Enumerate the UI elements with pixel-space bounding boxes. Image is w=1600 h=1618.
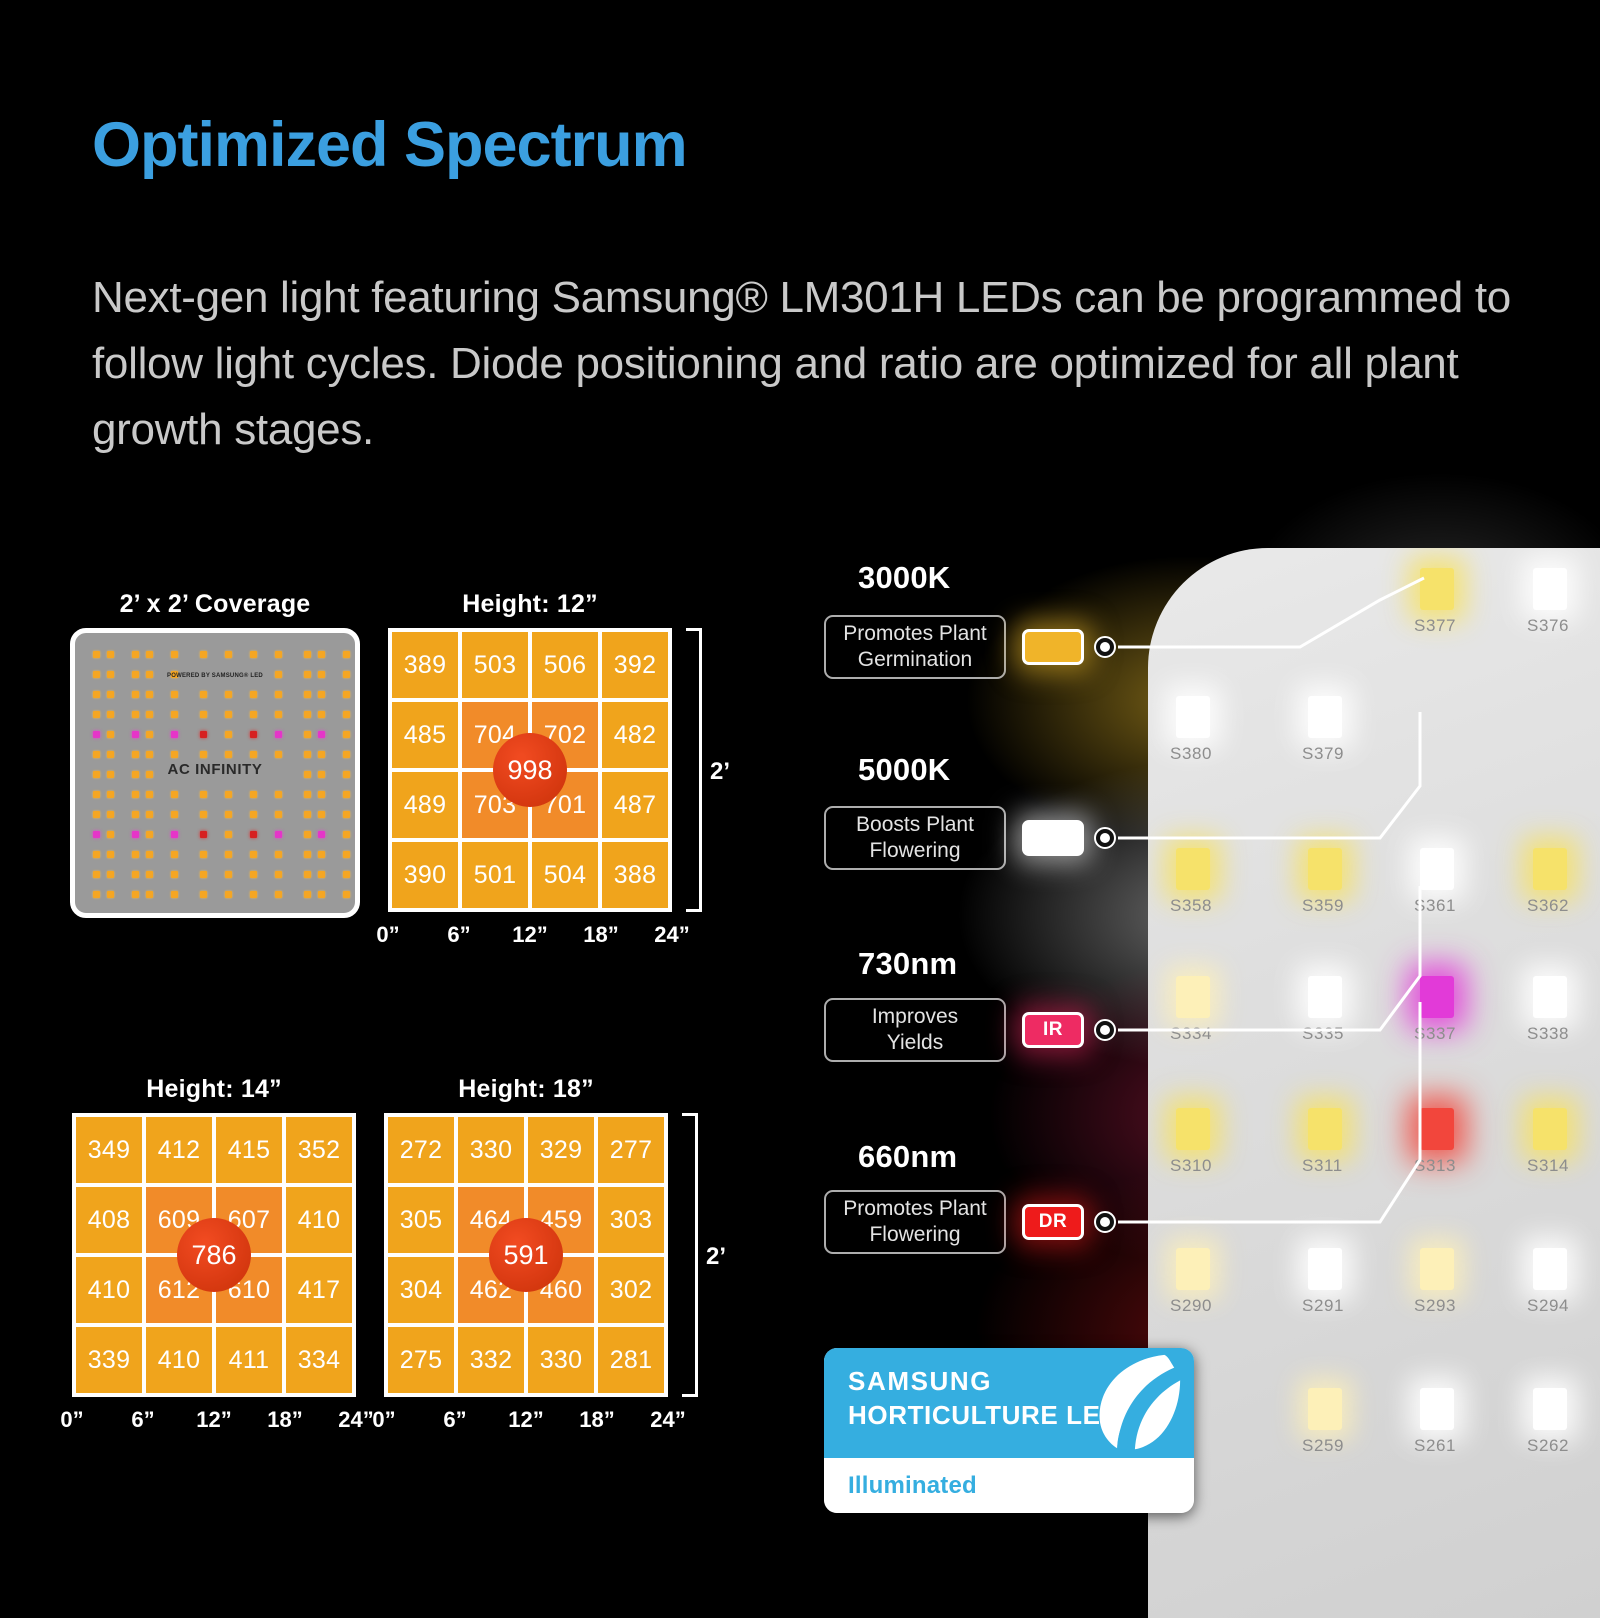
led-diode-dot [250,851,257,858]
led-diode-dot [225,751,232,758]
led-diode-dot [132,731,139,738]
led-diode-dot [200,871,207,878]
panel-diode-s314 [1533,1108,1567,1150]
panel-diode-label: S376 [1527,616,1569,636]
led-diode-dot [250,871,257,878]
panel-diode-label: S310 [1170,1156,1212,1176]
led-diode-dot [200,731,207,738]
led-diode-dot [107,851,114,858]
led-diode-dot [171,891,178,898]
samsung-horticulture-badge: SAMSUNG HORTICULTURE LED Illuminated [824,1348,1194,1513]
panel-diode-label: S337 [1414,1024,1456,1044]
led-diode-dot [357,791,360,798]
ppfd-center-value-12in: 998 [493,733,567,807]
ppfd-cell: 485 [392,702,458,768]
led-diode-dot [146,811,153,818]
grid-title-14in: Height: 14” [72,1075,356,1104]
panel-diode-s294 [1533,1248,1567,1290]
board-powered-label: POWERED BY SAMSUNG® LED [75,673,355,679]
legend-desc-line1: Promotes Plant [843,621,987,647]
led-diode-dot [171,791,178,798]
led-diode-dot [318,711,325,718]
panel-diode-s261 [1420,1388,1454,1430]
legend-desc-3000k: Promotes Plant Germination [824,615,1006,679]
leaf-icon [1070,1350,1188,1462]
panel-diode-s311 [1308,1108,1342,1150]
swatch-3000k [1022,629,1084,665]
led-diode-dot [275,651,282,658]
ppfd-cell: 417 [286,1257,352,1323]
led-diode-dot [250,731,257,738]
x-axis-tick: 12” [508,1407,543,1433]
led-diode-dot [357,831,360,838]
led-diode-dot [225,691,232,698]
led-diode-dot [343,751,350,758]
led-panel-photo: S380S379S377S376S358S359S361S362S334S335… [1148,548,1600,1618]
led-diode-dot [275,791,282,798]
panel-diode-label: S313 [1414,1156,1456,1176]
panel-diode-label: S291 [1302,1296,1344,1316]
led-diode-dot [200,891,207,898]
badge-header: SAMSUNG HORTICULTURE LED [824,1348,1194,1458]
ppfd-cell: 352 [286,1117,352,1183]
legend-desc-line2: Flowering [869,1222,960,1248]
ppfd-cell: 390 [392,842,458,908]
panel-diode-label: S338 [1527,1024,1569,1044]
ppfd-cell: 303 [598,1187,664,1253]
connector-dot-5000k [1094,827,1116,849]
height-bracket-18in [682,1113,698,1397]
panel-diode-label: S379 [1302,744,1344,764]
led-diode-dot [250,751,257,758]
led-diode-dot [357,851,360,858]
led-diode-dot [318,831,325,838]
led-diode-dot [343,791,350,798]
legend-desc-line1: Promotes Plant [843,1196,987,1222]
led-diode-dot [146,791,153,798]
panel-diode-label: S380 [1170,744,1212,764]
led-diode-dot [107,791,114,798]
badge-brand-label: SAMSUNG [848,1366,992,1397]
led-diode-dot [225,791,232,798]
page-title: Optimized Spectrum [92,112,687,178]
led-diode-dot [146,731,153,738]
board-brand-label: AC INFINITY [75,761,355,778]
x-axis-tick: 0” [60,1407,83,1433]
bracket-label-18in: 2’ [706,1243,726,1271]
x-axis-tick: 12” [512,922,547,948]
led-diode-dot [146,711,153,718]
ppfd-cell: 275 [388,1327,454,1393]
panel-diode-s334 [1176,976,1210,1018]
panel-diode-s338 [1533,976,1567,1018]
led-diode-dot [107,871,114,878]
panel-diode-label: S261 [1414,1436,1456,1456]
led-diode-dot [107,751,114,758]
led-diode-dot [200,651,207,658]
led-diode-dot [318,791,325,798]
legend-desc-660nm: Promotes Plant Flowering [824,1190,1006,1254]
led-diode-dot [357,811,360,818]
led-diode-dot [343,831,350,838]
ppfd-center-value-18in: 591 [489,1218,563,1292]
ppfd-cell: 410 [286,1187,352,1253]
ppfd-cell: 330 [458,1117,524,1183]
led-diode-dot [146,751,153,758]
led-diode-dot [250,651,257,658]
ppfd-cell: 349 [76,1117,142,1183]
legend-desc-5000k: Boosts Plant Flowering [824,806,1006,870]
led-diode-dot [250,711,257,718]
led-diode-dot [275,811,282,818]
led-diode-dot [146,891,153,898]
x-axis-tick: 0” [376,922,399,948]
panel-diode-s380 [1176,696,1210,738]
led-diode-dot [93,831,100,838]
led-diode-dot [225,851,232,858]
ppfd-cell: 330 [528,1327,594,1393]
led-diode-dot [343,871,350,878]
led-diode-dot [132,751,139,758]
panel-diode-s361 [1420,848,1454,890]
ppfd-cell: 412 [146,1117,212,1183]
led-diode-dot [132,851,139,858]
ppfd-cell: 504 [532,842,598,908]
ppfd-cell: 339 [76,1327,142,1393]
led-diode-dot [107,691,114,698]
page-subtitle: Next-gen light featuring Samsung® LM301H… [92,265,1512,463]
panel-diode-s337 [1420,976,1454,1018]
ppfd-cell: 489 [392,772,458,838]
swatch-5000k [1022,820,1084,856]
led-diode-dot [304,891,311,898]
legend-kelvin-660nm: 660nm [858,1139,957,1175]
led-diode-dot [343,691,350,698]
panel-diode-label: S361 [1414,896,1456,916]
led-diode-dot [275,711,282,718]
led-diode-dot [343,891,350,898]
panel-diode-s362 [1533,848,1567,890]
led-diode-dot [225,871,232,878]
led-diode-dot [200,791,207,798]
led-diode-dot [132,831,139,838]
bracket-label-12in: 2’ [710,758,730,786]
ppfd-cell: 415 [216,1117,282,1183]
panel-diode-label: S314 [1527,1156,1569,1176]
ppfd-cell: 334 [286,1327,352,1393]
panel-diode-s290 [1176,1248,1210,1290]
coverage-title: 2’ x 2’ Coverage [70,590,360,619]
led-diode-dot [304,751,311,758]
led-diode-dot [318,751,325,758]
led-diode-dot [304,871,311,878]
led-diode-dot [318,891,325,898]
led-diode-dot [304,651,311,658]
connector-dot-730nm [1094,1019,1116,1041]
led-diode-dot [318,691,325,698]
led-diode-dot [318,651,325,658]
legend-desc-730nm: Improves Yields [824,998,1006,1062]
legend-desc-line2: Flowering [869,838,960,864]
led-diode-dot [343,851,350,858]
led-diode-dot [107,891,114,898]
legend-desc-line1: Improves [872,1004,958,1030]
x-axis-tick: 6” [447,922,470,948]
legend-kelvin-730nm: 730nm [858,946,957,982]
led-diode-dot [132,711,139,718]
legend-kelvin-5000k: 5000K [858,752,950,788]
x-axis-tick: 6” [131,1407,154,1433]
led-diode-dot [304,811,311,818]
x-axis-tick: 18” [579,1407,614,1433]
x-axis-14in: 0”6”12”18”24” [72,1407,356,1437]
panel-diode-label: S359 [1302,896,1344,916]
led-diode-dot [250,811,257,818]
ppfd-cell: 411 [216,1327,282,1393]
led-diode-dot [200,711,207,718]
ppfd-cell: 487 [602,772,668,838]
led-diode-dot [275,731,282,738]
panel-diode-s377 [1420,568,1454,610]
panel-diode-label: S362 [1527,896,1569,916]
panel-diode-label: S293 [1414,1296,1456,1316]
led-diode-dot [343,811,350,818]
led-diode-dot [357,731,360,738]
grid-title-18in: Height: 18” [384,1075,668,1104]
led-diode-dot [107,731,114,738]
led-diode-dot [304,851,311,858]
led-diode-dot [132,871,139,878]
led-diode-dot [200,691,207,698]
panel-diode-label: S262 [1527,1436,1569,1456]
led-diode-dot [132,651,139,658]
led-diode-dot [132,691,139,698]
led-diode-dot [93,811,100,818]
led-diode-dot [171,871,178,878]
led-diode-dot [93,651,100,658]
led-diode-dot [146,691,153,698]
led-diode-dot [304,711,311,718]
ppfd-cell: 389 [392,632,458,698]
led-diode-dot [93,751,100,758]
panel-diode-label: S335 [1302,1024,1344,1044]
grid-title-12in: Height: 12” [390,590,670,619]
led-diode-dot [225,711,232,718]
led-diode-dot [200,831,207,838]
x-axis-tick: 0” [372,1407,395,1433]
led-diode-dot [132,811,139,818]
legend-desc-line2: Germination [858,647,972,673]
badge-illuminated-label: Illuminated [848,1472,977,1500]
led-diode-dot [275,751,282,758]
panel-diode-s259 [1308,1388,1342,1430]
led-diode-dot [93,731,100,738]
led-diode-dot [304,791,311,798]
led-diode-dot [107,651,114,658]
x-axis-18in: 0”6”12”18”24” [384,1407,668,1437]
swatch-660nm-dr: DR [1022,1204,1084,1240]
ppfd-cell: 281 [598,1327,664,1393]
panel-diode-s376 [1533,568,1567,610]
led-diode-dot [357,771,360,778]
panel-diode-s358 [1176,848,1210,890]
ppfd-cell: 305 [388,1187,454,1253]
led-diode-dot [93,891,100,898]
ppfd-cell: 501 [462,842,528,908]
led-diode-dot [200,851,207,858]
led-diode-dot [146,871,153,878]
panel-diode-s310 [1176,1108,1210,1150]
panel-diode-s335 [1308,976,1342,1018]
led-diode-dot [171,651,178,658]
ppfd-cell: 503 [462,632,528,698]
ppfd-cell: 304 [388,1257,454,1323]
x-axis-12in: 0”6”12”18”24” [388,922,672,952]
ppfd-cell: 388 [602,842,668,908]
led-board-graphic: POWERED BY SAMSUNG® LED AC INFINITY [70,628,360,918]
led-diode-dot [304,731,311,738]
led-diode-dot [318,811,325,818]
led-diode-dot [275,851,282,858]
led-diode-dot [171,711,178,718]
ppfd-cell: 332 [458,1327,524,1393]
badge-footer: Illuminated [824,1458,1194,1513]
led-diode-dot [93,711,100,718]
panel-diode-label: S358 [1170,896,1212,916]
panel-diode-label: S259 [1302,1436,1344,1456]
led-diode-dot [318,871,325,878]
panel-diode-label: S290 [1170,1296,1212,1316]
legend-kelvin-3000k: 3000K [858,560,950,596]
led-diode-dot [225,811,232,818]
panel-diode-s359 [1308,848,1342,890]
ppfd-cell: 329 [528,1117,594,1183]
connector-dot-660nm [1094,1211,1116,1233]
led-diode-dot [146,651,153,658]
ppfd-cell: 410 [146,1327,212,1393]
led-diode-dot [225,731,232,738]
panel-diode-s379 [1308,696,1342,738]
led-diode-dot [275,891,282,898]
ppfd-cell: 272 [388,1117,454,1183]
led-diode-dot [357,691,360,698]
led-diode-dot [93,871,100,878]
swatch-730nm-ir: IR [1022,1012,1084,1048]
led-diode-dot [318,731,325,738]
led-diode-dot [107,711,114,718]
led-diode-dot [171,731,178,738]
panel-diode-label: S334 [1170,1024,1212,1044]
panel-diode-s313 [1420,1108,1454,1150]
ppfd-cell: 302 [598,1257,664,1323]
led-diode-dot [343,651,350,658]
x-axis-tick: 18” [267,1407,302,1433]
led-diode-dot [171,851,178,858]
led-diode-dot [357,751,360,758]
connector-dot-3000k [1094,636,1116,658]
ppfd-center-value-14in: 786 [177,1218,251,1292]
panel-diode-s262 [1533,1388,1567,1430]
ppfd-cell: 408 [76,1187,142,1253]
led-diode-dot [225,831,232,838]
led-diode-dot [225,891,232,898]
led-diode-dot [343,711,350,718]
height-bracket-12in [686,628,702,912]
led-diode-dot [275,871,282,878]
led-diode-dot [250,691,257,698]
legend-desc-line1: Boosts Plant [856,812,974,838]
led-diode-dot [93,791,100,798]
led-diode-dot [225,651,232,658]
led-diode-dot [343,731,350,738]
led-diode-dot [250,791,257,798]
led-diode-dot [357,871,360,878]
led-diode-dot [171,811,178,818]
x-axis-tick: 6” [443,1407,466,1433]
led-diode-dot [93,851,100,858]
led-diode-dot [171,831,178,838]
led-diode-dot [275,831,282,838]
x-axis-tick: 24” [650,1407,685,1433]
x-axis-tick: 24” [338,1407,373,1433]
x-axis-tick: 18” [583,922,618,948]
ppfd-cell: 277 [598,1117,664,1183]
panel-diode-s293 [1420,1248,1454,1290]
led-diode-dot [200,811,207,818]
led-diode-dot [357,671,360,678]
led-diode-dot [146,851,153,858]
led-diode-dot [250,831,257,838]
ppfd-cell: 410 [76,1257,142,1323]
led-diode-dot [171,691,178,698]
led-diode-dot [200,751,207,758]
led-diode-dot [318,851,325,858]
led-diode-dot [107,811,114,818]
led-diode-dot [93,691,100,698]
led-diode-dot [357,891,360,898]
ppfd-cell: 506 [532,632,598,698]
ppfd-cell: 482 [602,702,668,768]
led-diode-dot [132,791,139,798]
led-diode-dot [171,751,178,758]
legend-desc-line2: Yields [887,1030,943,1056]
led-diode-dot [357,711,360,718]
led-diode-dot [275,691,282,698]
led-diode-dot [357,651,360,658]
ppfd-cell: 392 [602,632,668,698]
led-diode-dot [304,691,311,698]
led-diode-dot [107,831,114,838]
panel-diode-label: S294 [1527,1296,1569,1316]
panel-diode-s291 [1308,1248,1342,1290]
panel-diode-label: S311 [1302,1156,1343,1176]
led-diode-dot [132,891,139,898]
led-diode-dot [146,831,153,838]
x-axis-tick: 12” [196,1407,231,1433]
led-diode-dot [304,831,311,838]
panel-diode-label: S377 [1414,616,1456,636]
led-diode-dot [250,891,257,898]
x-axis-tick: 24” [654,922,689,948]
